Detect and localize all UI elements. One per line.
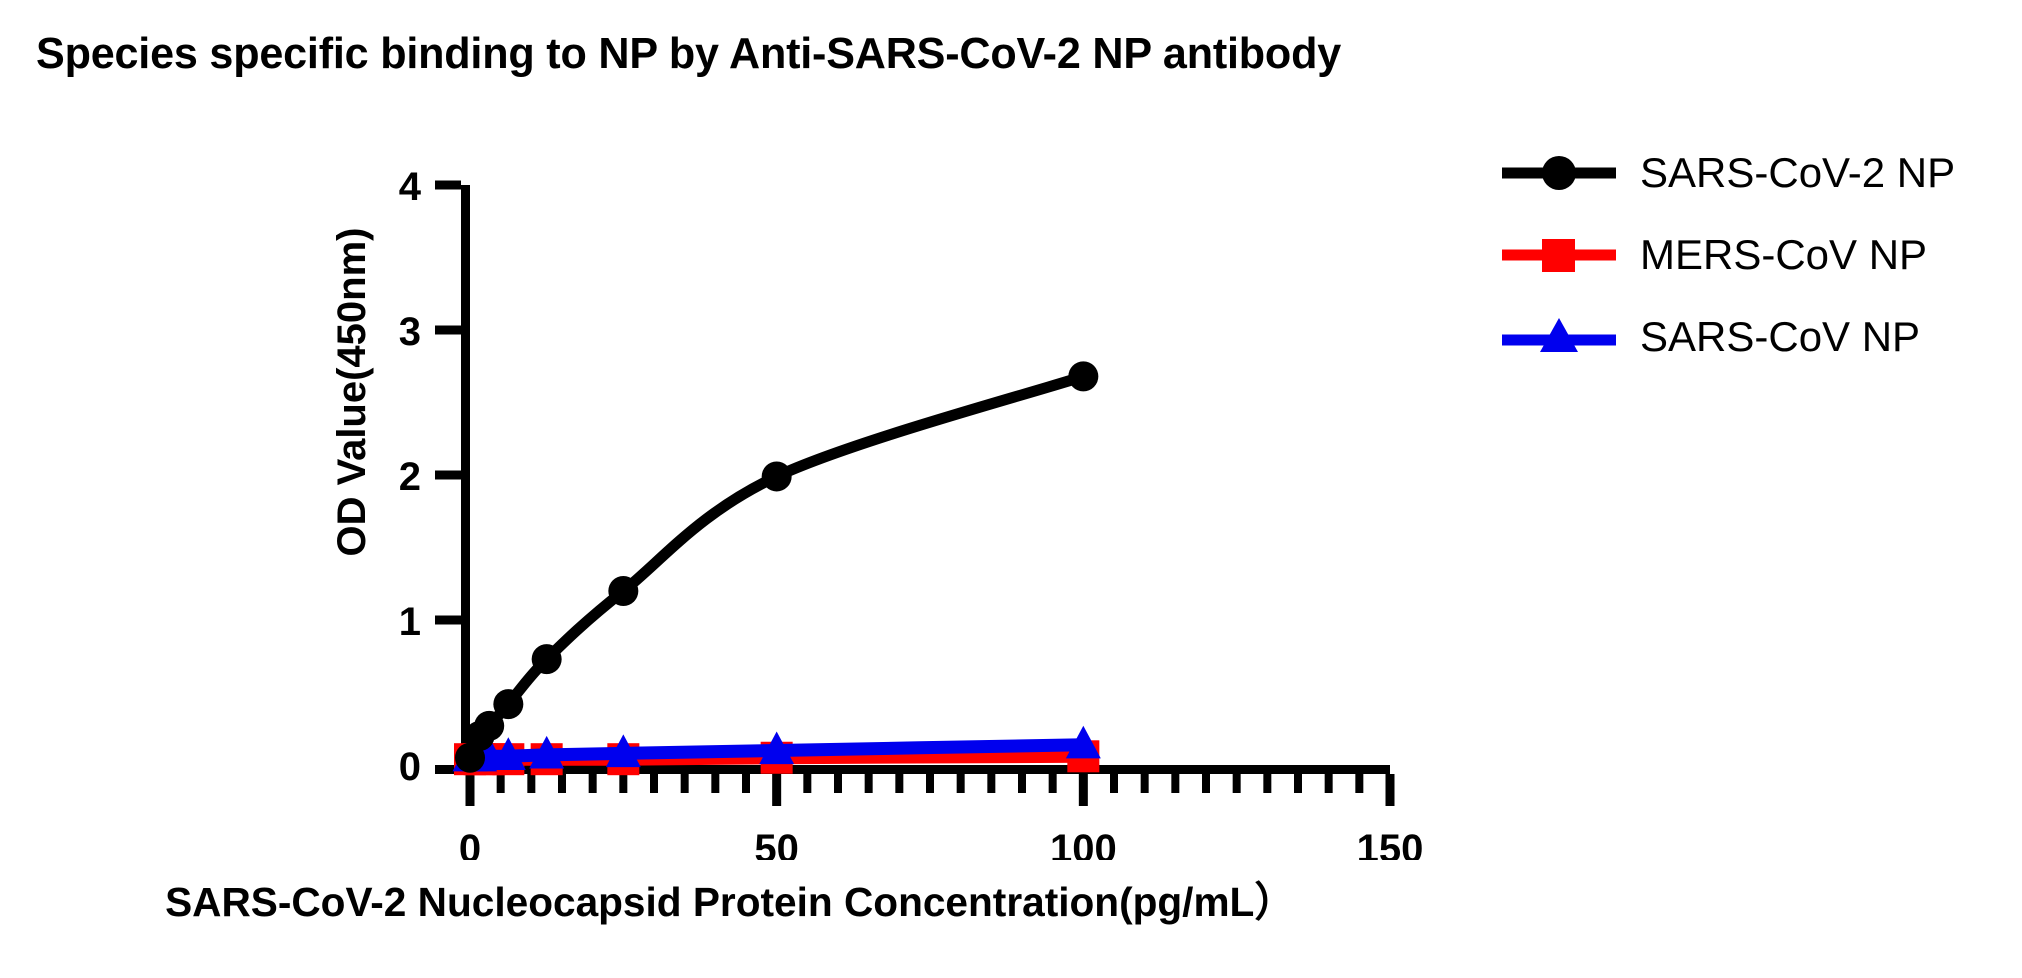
legend-item-sars-cov-2-np[interactable]: SARS-CoV-2 NP bbox=[1500, 140, 2000, 206]
circle-marker-icon bbox=[1500, 150, 1618, 196]
data-point-circle bbox=[493, 689, 523, 719]
y-tick-label: 1 bbox=[399, 600, 421, 644]
legend-item-sars-cov-np[interactable]: SARS-CoV NP bbox=[1500, 304, 2000, 370]
x-tick-label: 0 bbox=[459, 827, 481, 860]
series-layer bbox=[453, 361, 1101, 775]
y-tick-label: 2 bbox=[399, 455, 421, 499]
data-point-circle bbox=[762, 461, 792, 491]
x-tick-label: 100 bbox=[1050, 827, 1117, 860]
plot-canvas: 05010015001234 bbox=[0, 0, 1480, 860]
legend-item-mers-cov-np[interactable]: MERS-CoV NP bbox=[1500, 222, 2000, 288]
triangle-marker-icon bbox=[1500, 314, 1618, 360]
y-tick-label: 0 bbox=[399, 745, 421, 789]
y-tick-label: 4 bbox=[399, 165, 422, 209]
series-line bbox=[470, 376, 1083, 757]
data-point-circle bbox=[608, 576, 638, 606]
plot-area: 05010015001234 bbox=[0, 0, 1480, 860]
data-point-circle bbox=[1068, 361, 1098, 391]
legend-label: MERS-CoV NP bbox=[1618, 232, 1927, 278]
axis-layer bbox=[435, 185, 1390, 806]
square-marker-icon bbox=[1500, 232, 1618, 278]
x-axis-title: SARS-CoV-2 Nucleocapsid Protein Concentr… bbox=[156, 868, 1304, 928]
x-tick-label: 150 bbox=[1357, 827, 1424, 860]
data-point-circle bbox=[532, 644, 562, 674]
y-tick-label: 3 bbox=[399, 310, 421, 354]
legend: SARS-CoV-2 NP MERS-CoV NP SARS-CoV NP bbox=[1500, 140, 2000, 386]
series-sars-cov-2-np bbox=[455, 361, 1098, 772]
y-axis-title: OD Value(450nm) bbox=[330, 112, 375, 672]
legend-label: SARS-CoV-2 NP bbox=[1618, 150, 1955, 196]
legend-label: SARS-CoV NP bbox=[1618, 314, 1920, 360]
x-tick-label: 50 bbox=[754, 827, 799, 860]
chart-figure: Species specific binding to NP by Anti-S… bbox=[0, 0, 2022, 978]
